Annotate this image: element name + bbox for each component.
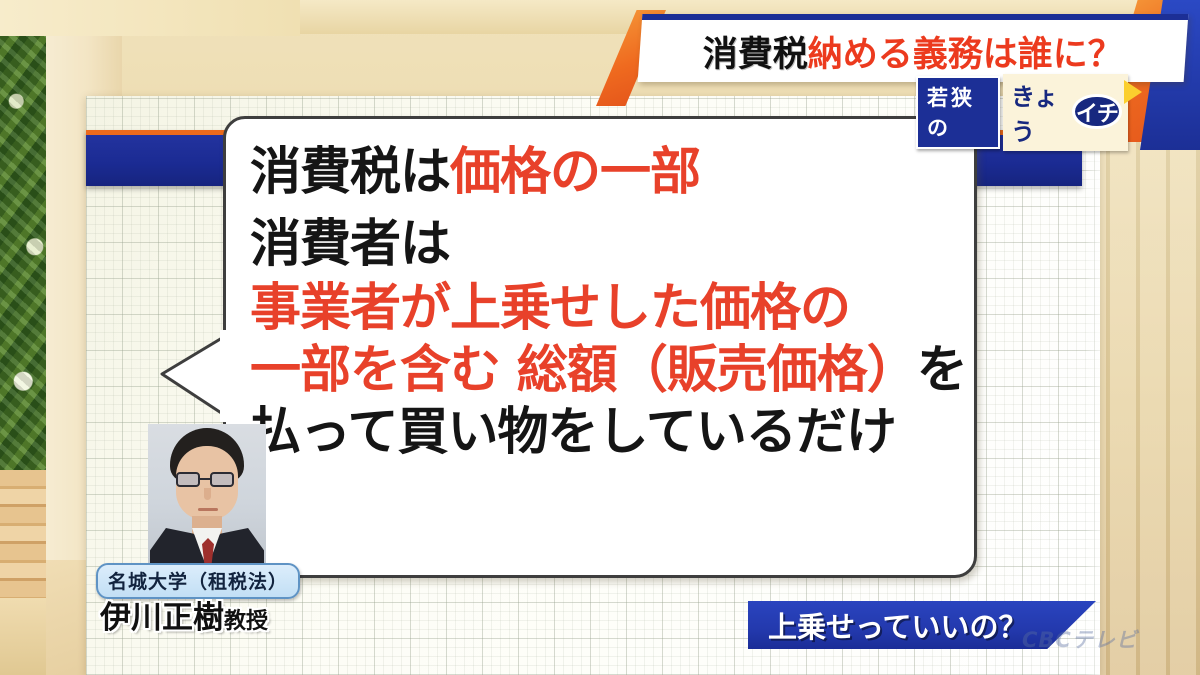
broadcaster-watermark: CBCテレビ bbox=[1022, 624, 1138, 654]
speech-line-1-red: 価格の一部 bbox=[450, 143, 700, 202]
studio-ceiling-left bbox=[0, 0, 300, 36]
topic-black-part: 消費税 bbox=[703, 35, 808, 75]
next-topic-text: 上乗せっていいの？ bbox=[768, 604, 1028, 646]
broadcast-screen: 消費税の正体は？ 消費税は価格の一部 消費者は 事業者が上乗せした価格の 一部を… bbox=[0, 0, 1200, 675]
photo-mouth bbox=[198, 508, 218, 511]
program-topic-text: 消費税納める義務は誰に？ bbox=[703, 26, 1123, 77]
speech-line-1-black: 消費税は bbox=[250, 143, 450, 202]
photo-glasses-right-icon bbox=[210, 472, 234, 487]
speaker-name-text: 伊川正樹 bbox=[100, 600, 224, 636]
topic-red-part: 納める義務は誰に？ bbox=[808, 35, 1123, 75]
speech-line-2-black: 消費者は bbox=[250, 215, 450, 274]
photo-glasses-bridge bbox=[200, 478, 210, 480]
speech-line-5: 払って買い物をしているだけ bbox=[250, 402, 970, 464]
speaker-affiliation-text: 名城大学（租税法） bbox=[108, 571, 288, 593]
speaker-title-text: 教授 bbox=[224, 609, 268, 634]
speech-line-4-red: 一部を含む 総額（販売価格） bbox=[250, 341, 917, 400]
program-logo-kyo: きょう bbox=[1011, 77, 1070, 147]
program-logo-host-label: 若狭の bbox=[916, 76, 1000, 149]
logo-arrow-icon bbox=[1124, 80, 1142, 104]
program-logo: 若狭の きょう イチ bbox=[916, 90, 1128, 134]
speech-bubble-tail-icon bbox=[154, 330, 232, 422]
speech-line-2: 消費者は bbox=[250, 214, 970, 276]
speech-line-4-black: を bbox=[917, 341, 967, 400]
program-logo-title: きょう イチ bbox=[1003, 74, 1128, 151]
speech-bubble-text: 消費税は価格の一部 消費者は 事業者が上乗せした価格の 一部を含む 総額（販売価… bbox=[236, 128, 976, 568]
program-logo-ichi-badge: イチ bbox=[1072, 94, 1122, 129]
speech-line-3: 事業者が上乗せした価格の bbox=[250, 278, 970, 340]
photo-nose bbox=[204, 488, 211, 500]
speech-line-1: 消費税は価格の一部 bbox=[250, 142, 970, 204]
program-logo-ichi: イチ bbox=[1076, 96, 1118, 128]
speech-line-4: 一部を含む 総額（販売価格）を bbox=[250, 340, 970, 402]
speaker-name-label: 伊川正樹教授 bbox=[100, 592, 268, 637]
program-topic-banner: 消費税納める義務は誰に？ bbox=[638, 14, 1189, 82]
photo-glasses-left-icon bbox=[176, 472, 200, 487]
